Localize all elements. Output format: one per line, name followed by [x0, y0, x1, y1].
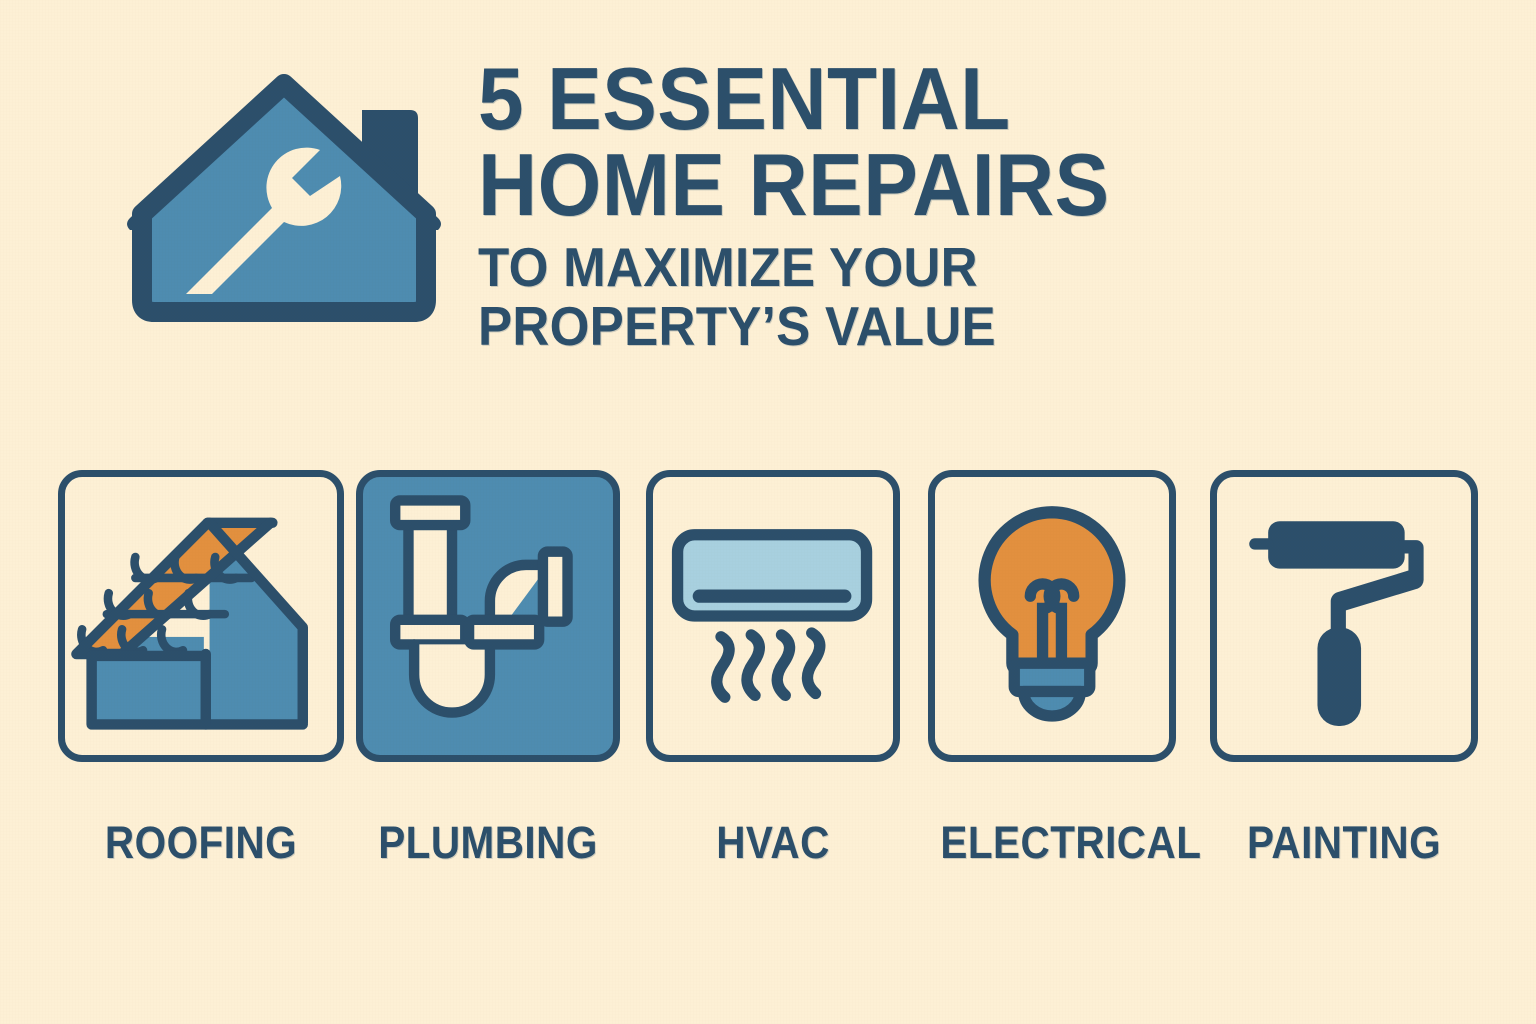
subtitle-line-2: PROPERTY’S VALUE: [478, 297, 1250, 355]
title-line-2: HOME REPAIRS: [478, 142, 1250, 228]
airflow-waves: [717, 633, 820, 697]
airflow-wave: [807, 633, 819, 693]
ac-louver-bar: [693, 590, 852, 603]
roller-parts: [1249, 521, 1423, 726]
airflow-wave: [747, 635, 759, 695]
outlet-coupling: [543, 552, 568, 622]
roller-axle-stub: [1249, 538, 1274, 549]
category-card-row: [0, 470, 1536, 762]
airflow-wave: [717, 637, 729, 697]
category-label-row: ROOFING PLUMBING HVAC ELECTRICAL PAINTIN…: [0, 812, 1536, 882]
label-plumbing: PLUMBING: [369, 812, 607, 874]
trap-outer: [414, 644, 490, 712]
pipe-assembly: [395, 500, 567, 712]
page-subtitle: TO MAXIMIZE YOUR PROPERTY’S VALUE: [478, 238, 1308, 355]
label-painting: PAINTING: [1223, 812, 1464, 874]
card-plumbing[interactable]: [356, 470, 620, 762]
vertical-pipe: [408, 519, 452, 627]
paint-roller-icon: [1217, 477, 1471, 755]
light-bulb-icon: [935, 477, 1169, 755]
trap-right-coupling: [469, 620, 539, 645]
logo-svg: [124, 62, 444, 322]
label-hvac: HVAC: [659, 812, 888, 874]
airflow-wave: [777, 635, 789, 695]
card-hvac[interactable]: [646, 470, 900, 762]
p-trap-pipe-icon: [363, 477, 613, 755]
mid-coupling: [395, 620, 465, 645]
roller-drum: [1268, 521, 1404, 568]
top-coupling: [395, 500, 465, 525]
page-title: 5 ESSENTIAL HOME REPAIRS TO MAXIMIZE YOU…: [478, 56, 1308, 355]
card-roofing[interactable]: [58, 470, 344, 762]
card-electrical[interactable]: [928, 470, 1176, 762]
roof-shingles-house-icon: [65, 477, 337, 755]
label-roofing: ROOFING: [72, 812, 329, 874]
roller-handle: [1317, 627, 1361, 726]
card-painting[interactable]: [1210, 470, 1478, 762]
infographic-poster: 5 ESSENTIAL HOME REPAIRS TO MAXIMIZE YOU…: [0, 0, 1536, 1024]
air-conditioner-unit-icon: [653, 477, 893, 755]
subtitle-line-1: TO MAXIMIZE YOUR: [478, 238, 1250, 296]
bulb-base-cap: [1024, 691, 1081, 716]
title-line-1: 5 ESSENTIAL: [478, 56, 1250, 142]
ac-unit-body: [678, 535, 867, 616]
house-with-wrench-logo: [124, 62, 444, 322]
label-electrical: ELECTRICAL: [940, 812, 1163, 874]
